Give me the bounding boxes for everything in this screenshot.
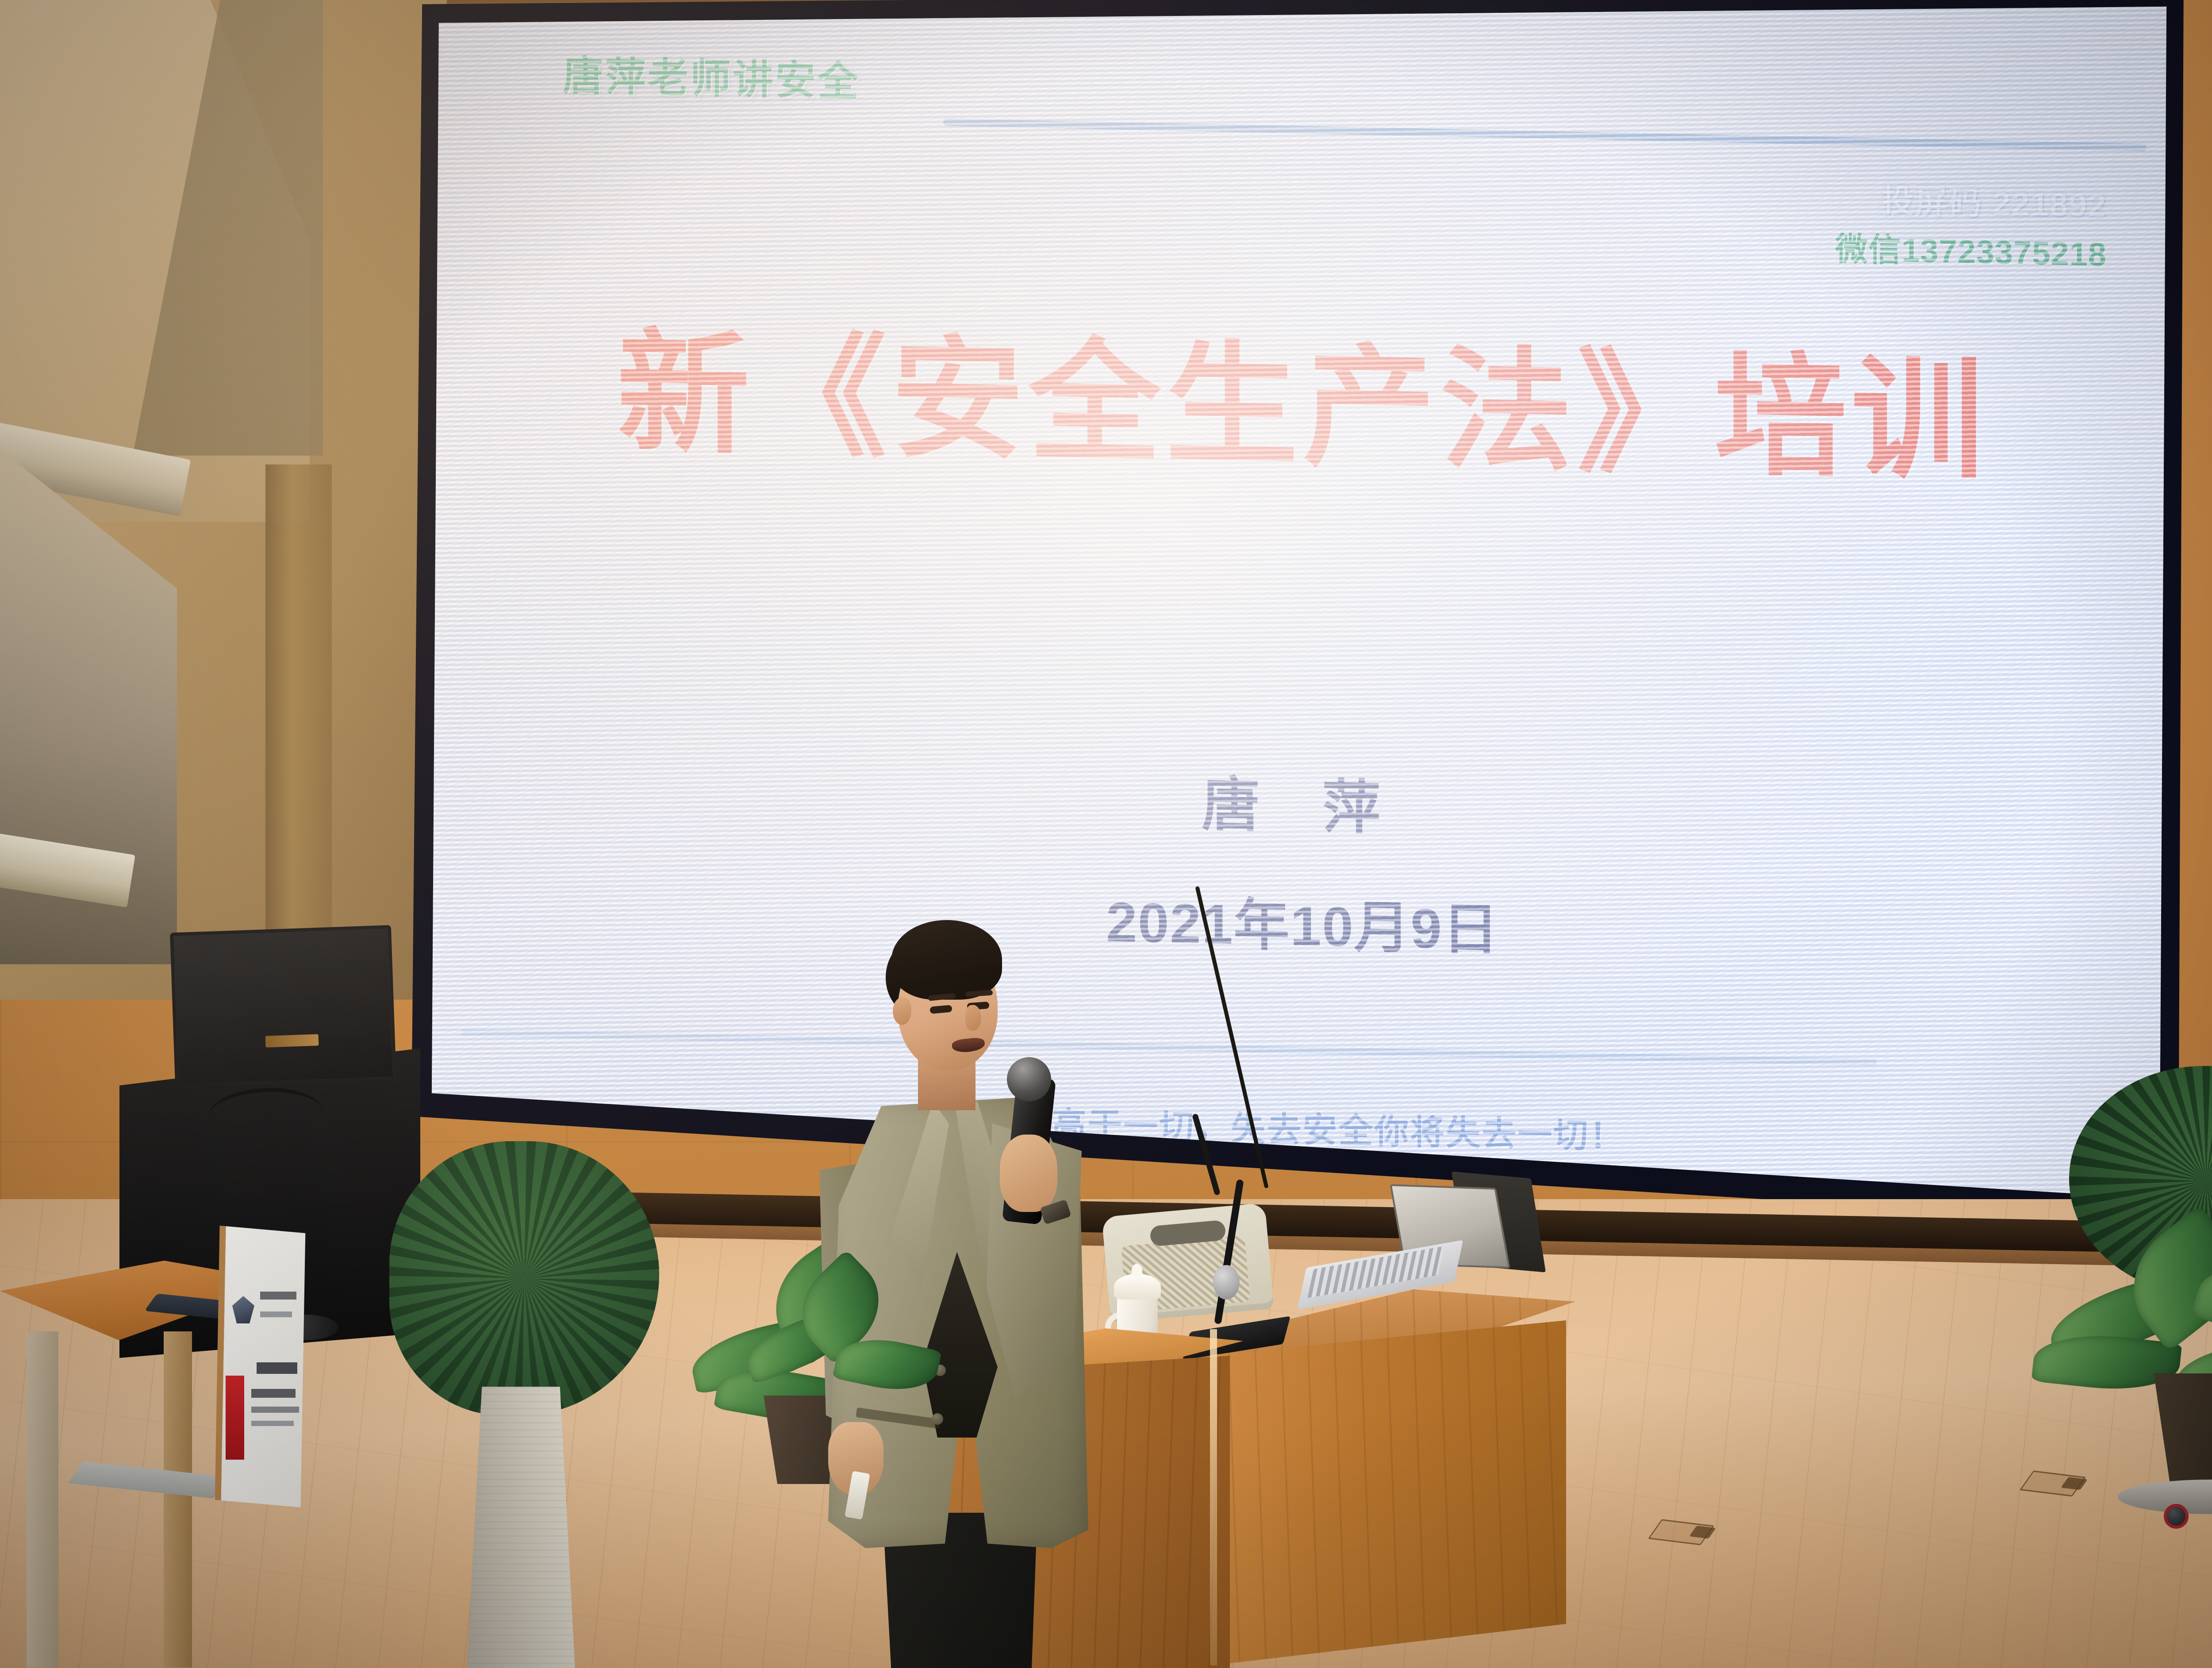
dolly-caster-left xyxy=(2164,1504,2189,1529)
wechat-contact-text: 微信13723375218 xyxy=(1835,222,2107,276)
sign-text-line-3 xyxy=(257,1362,297,1374)
av-cart xyxy=(18,1221,354,1668)
projection-screen[interactable]: 唐萍老师讲安全 投屏码 221892 微信13723375218 新《安全生产法… xyxy=(421,0,2184,1254)
lectern-edge-highlight xyxy=(1210,1329,1217,1665)
sign-text-line-4 xyxy=(251,1389,296,1398)
slide-kicker-text: 唐萍老师讲安全 xyxy=(563,43,860,108)
projection-code-block: 投屏码 221892 微信13723375218 xyxy=(1835,173,2107,276)
sign-red-banner xyxy=(226,1376,244,1460)
monitor-brand-logo xyxy=(265,1034,319,1047)
slide-footer-rule xyxy=(461,1029,1877,1066)
projection-code-text: 投屏码 221892 xyxy=(1835,173,2107,226)
left-wall-column xyxy=(265,464,332,986)
gooseneck-mic-capsule xyxy=(1213,1265,1240,1300)
slide-headline: 新《安全生产法》培训 xyxy=(421,281,2184,510)
slide-header-rule xyxy=(943,119,2147,151)
cart-keyboard-shelf xyxy=(68,1461,228,1498)
sign-text-line-1 xyxy=(260,1292,296,1300)
presentation-slide: 唐萍老师讲安全 投屏码 221892 微信13723375218 新《安全生产法… xyxy=(421,0,2184,1254)
presenter-right-hand xyxy=(1000,1135,1057,1212)
presenter-nose xyxy=(965,1005,981,1031)
cart-leg-back xyxy=(164,1331,192,1668)
teacup-knob xyxy=(1132,1264,1142,1277)
potted-plant-behind-presenter xyxy=(743,1256,929,1433)
tall-cylindrical-planter xyxy=(467,1387,575,1668)
confidence-monitor xyxy=(170,925,396,1087)
sign-text-line-6 xyxy=(251,1421,294,1426)
cart-leg-front xyxy=(27,1331,58,1668)
presenter-jacket-button-lower xyxy=(932,1413,943,1425)
slide-date: 2021年10月9日 xyxy=(421,863,2184,980)
presenter-hair xyxy=(891,920,1002,1000)
presenter-ear xyxy=(893,997,911,1025)
sign-text-line-2 xyxy=(260,1311,292,1317)
teacup-lid xyxy=(1114,1274,1161,1300)
slide-presenter-name: 唐 萍 xyxy=(421,741,2184,863)
sign-text-line-5 xyxy=(251,1407,299,1413)
scene-root: 唐萍老师讲安全 投屏码 221892 微信13723375218 新《安全生产法… xyxy=(0,0,2212,1668)
lectern-side-panel xyxy=(1212,1320,1566,1665)
